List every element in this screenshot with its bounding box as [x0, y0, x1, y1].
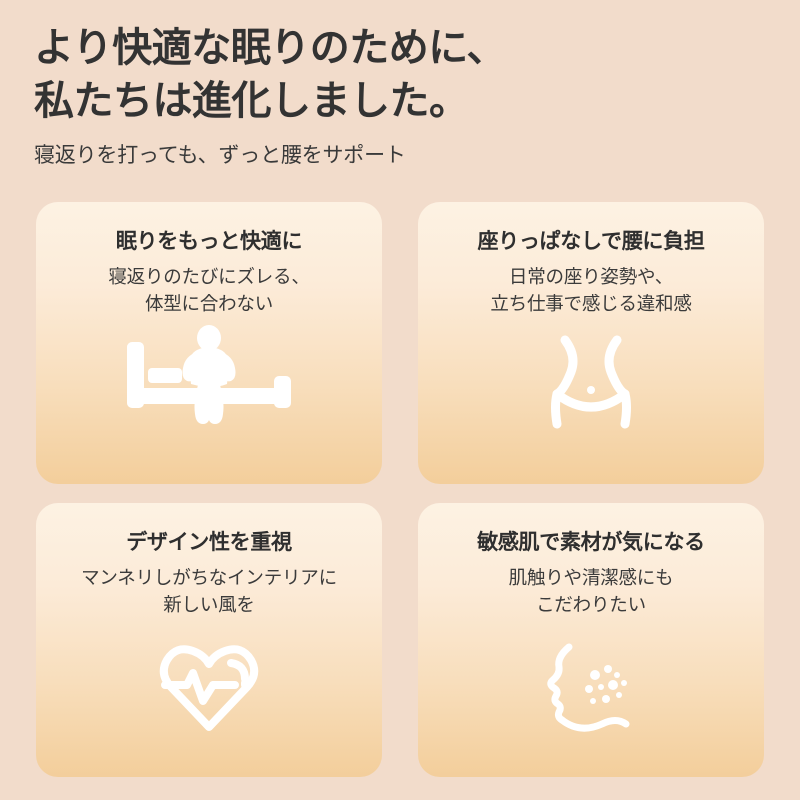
face-profile-particles-icon: [432, 641, 750, 777]
card-description: マンネリしがちなインテリアに 新しい風を: [81, 565, 337, 619]
card-title: 眠りをもっと快適に: [116, 228, 302, 255]
card-title: 敏感肌で素材が気になる: [477, 529, 705, 556]
hero-header: より快適な眠りのために、 私たちは進化しました。 寝返りを打っても、ずっと腰をサ…: [34, 22, 774, 170]
feature-card[interactable]: 眠りをもっと快適に 寝返りのたびにズレる、 体型に合わない: [36, 202, 382, 484]
feature-card[interactable]: 座りっぱなしで腰に負担 日常の座り姿勢や、 立ち仕事で感じる違和感: [418, 202, 764, 484]
feature-card[interactable]: 敏感肌で素材が気になる 肌触りや清潔感にも こだわりたい: [418, 503, 764, 777]
card-description: 肌触りや清潔感にも こだわりたい: [509, 565, 674, 619]
page-root: より快適な眠りのために、 私たちは進化しました。 寝返りを打っても、ずっと腰をサ…: [0, 0, 800, 800]
card-title: デザイン性を重視: [126, 529, 292, 556]
page-title: より快適な眠りのために、 私たちは進化しました。: [34, 22, 774, 128]
card-description: 日常の座り姿勢や、 立ち仕事で感じる違和感: [490, 264, 691, 318]
page-subtitle: 寝返りを打っても、ずっと腰をサポート: [34, 142, 774, 170]
card-description: 寝返りのたびにズレる、 体型に合わない: [108, 264, 309, 318]
card-title: 座りっぱなしで腰に負担: [477, 228, 704, 255]
feature-card-grid: 眠りをもっと快適に 寝返りのたびにズレる、 体型に合わない: [36, 202, 764, 777]
feature-card[interactable]: デザイン性を重視 マンネリしがちなインテリアに 新しい風を: [36, 503, 382, 777]
torso-waist-icon: [432, 334, 750, 484]
heart-pulse-icon: [50, 639, 368, 777]
person-sitting-on-bed-icon: [50, 322, 368, 484]
